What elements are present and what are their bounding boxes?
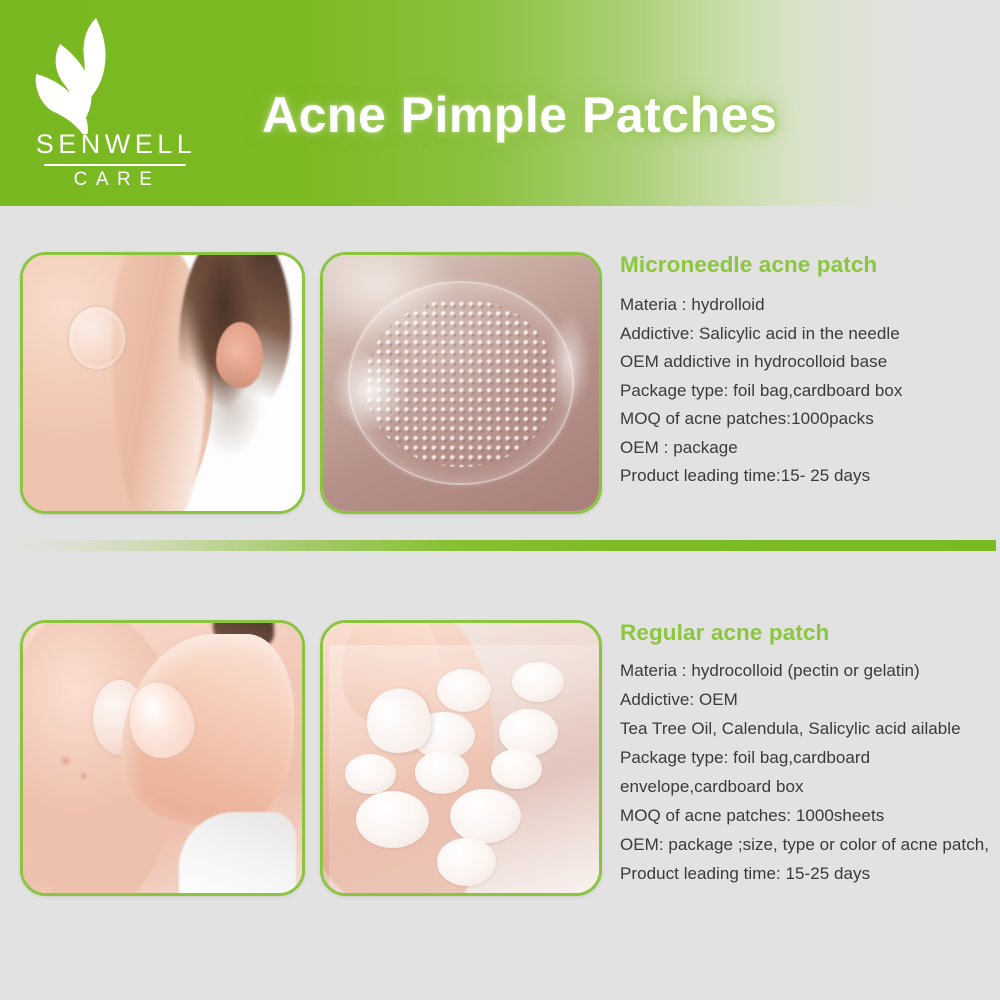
flame-leaf-mark-icon bbox=[28, 16, 198, 134]
spec-item: Materia : hydrolloid bbox=[620, 291, 992, 320]
brand-name: SENWELL bbox=[32, 129, 200, 160]
spec-item: Product leading time:15- 25 days bbox=[620, 462, 992, 491]
regular-info: Regular acne patch Materia : hydrocolloi… bbox=[620, 620, 992, 888]
spec-item: Product leading time: 15-25 days bbox=[620, 859, 992, 888]
photo-applying-patch bbox=[20, 620, 305, 896]
product-info-page: SENWELL CARE Acne Pimple Patches bbox=[0, 0, 1000, 1000]
microneedle-info: Microneedle acne patch Materia : hydroll… bbox=[620, 252, 992, 491]
regular-spec-list: Materia : hydrocolloid (pectin or gelati… bbox=[620, 656, 992, 888]
spec-item: Package type: foil bag,cardboard box bbox=[620, 377, 992, 406]
patch-on-skin bbox=[68, 306, 127, 370]
section-divider bbox=[0, 540, 996, 551]
spec-item: Tea Tree Oil, Calendula, Salicylic acid … bbox=[620, 714, 992, 743]
photo-canvas bbox=[23, 255, 302, 511]
spec-item: Addictive: Salicylic acid in the needle bbox=[620, 320, 992, 349]
section-regular: Regular acne patch Materia : hydrocolloi… bbox=[0, 620, 1000, 900]
page-title: Acne Pimple Patches bbox=[262, 86, 777, 144]
regular-heading: Regular acne patch bbox=[620, 620, 992, 646]
spec-item: Materia : hydrocolloid (pectin or gelati… bbox=[620, 656, 992, 685]
spec-item: Addictive: OEM bbox=[620, 685, 992, 714]
photo-canvas bbox=[323, 623, 599, 893]
brand-tagline: CARE bbox=[44, 169, 190, 191]
photo-canvas bbox=[23, 623, 302, 893]
spec-item: Package type: foil bag,cardboard envelop… bbox=[620, 743, 992, 801]
section-microneedle: Microneedle acne patch Materia : hydroll… bbox=[0, 252, 1000, 520]
brand-logo: SENWELL CARE bbox=[28, 16, 198, 191]
microneedle-heading: Microneedle acne patch bbox=[620, 252, 992, 278]
spec-item: MOQ of acne patches:1000packs bbox=[620, 405, 992, 434]
photo-patch-on-cheek bbox=[20, 252, 305, 514]
logo-divider-rule bbox=[44, 164, 186, 166]
spec-item: OEM : package bbox=[620, 434, 992, 463]
photo-patch-sheet bbox=[320, 620, 602, 896]
spec-item: OEM: package ;size, type or color of acn… bbox=[620, 830, 992, 859]
spec-item: OEM addictive in hydrocolloid base bbox=[620, 348, 992, 377]
page-header: SENWELL CARE Acne Pimple Patches bbox=[0, 0, 1000, 206]
photo-microneedle-closeup bbox=[320, 252, 602, 514]
patch-sheet bbox=[329, 645, 599, 893]
photo-canvas bbox=[323, 255, 599, 511]
microneedle-spec-list: Materia : hydrolloid Addictive: Salicyli… bbox=[620, 291, 992, 491]
spec-item: MOQ of acne patches: 1000sheets bbox=[620, 801, 992, 830]
